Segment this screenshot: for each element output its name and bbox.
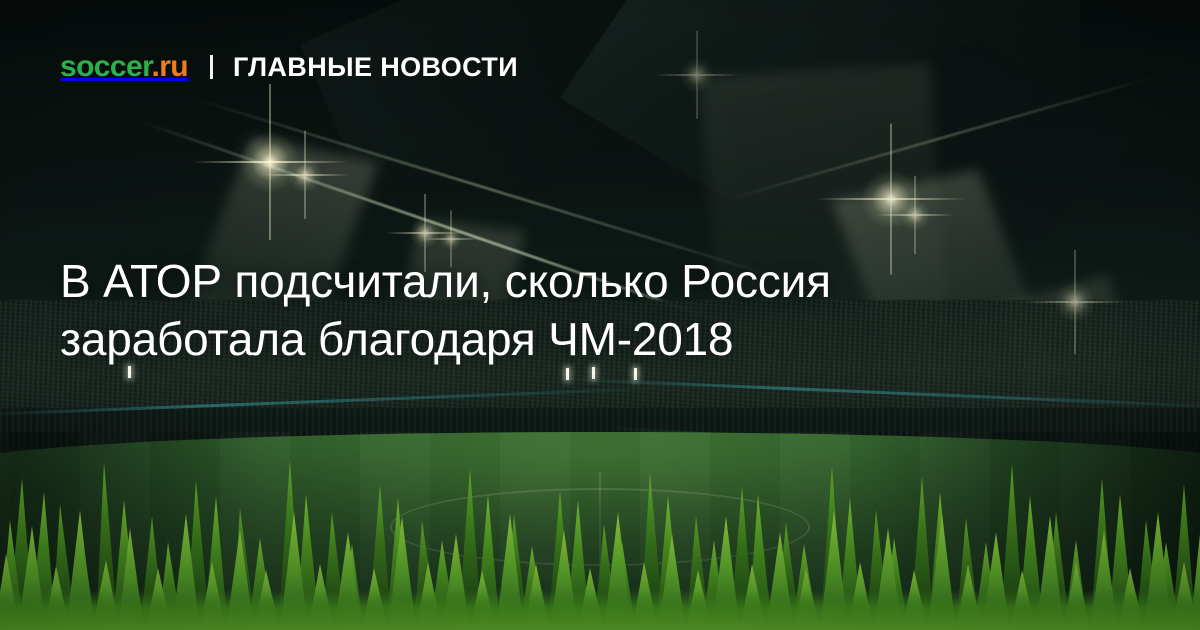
floodlight-flare bbox=[410, 218, 440, 248]
floodlight-flare bbox=[288, 158, 322, 192]
floodlight-flare bbox=[680, 58, 714, 92]
floodlight-flare bbox=[440, 228, 462, 250]
logo-brand-text: soccer bbox=[60, 50, 151, 83]
news-banner: soccer.ru ГЛАВНЫЕ НОВОСТИ В АТОР подсчит… bbox=[0, 0, 1200, 630]
title-line-2: заработала благодаря ЧМ-2018 bbox=[60, 310, 1120, 368]
title-line-1: В АТОР подсчитали, сколько Россия bbox=[60, 252, 1120, 310]
floodlight-flare bbox=[900, 200, 930, 230]
soccer-ru-logo[interactable]: soccer.ru bbox=[60, 52, 188, 82]
header-divider bbox=[210, 55, 213, 79]
logo-tld-text: .ru bbox=[151, 50, 188, 83]
section-kicker: ГЛАВНЫЕ НОВОСТИ bbox=[233, 54, 518, 81]
page-title: В АТОР подсчитали, сколько Россия зарабо… bbox=[60, 252, 1120, 368]
banner-header: soccer.ru ГЛАВНЫЕ НОВОСТИ bbox=[60, 48, 518, 86]
foreground-grass bbox=[0, 450, 1200, 630]
stadium-light-row bbox=[0, 366, 1200, 380]
